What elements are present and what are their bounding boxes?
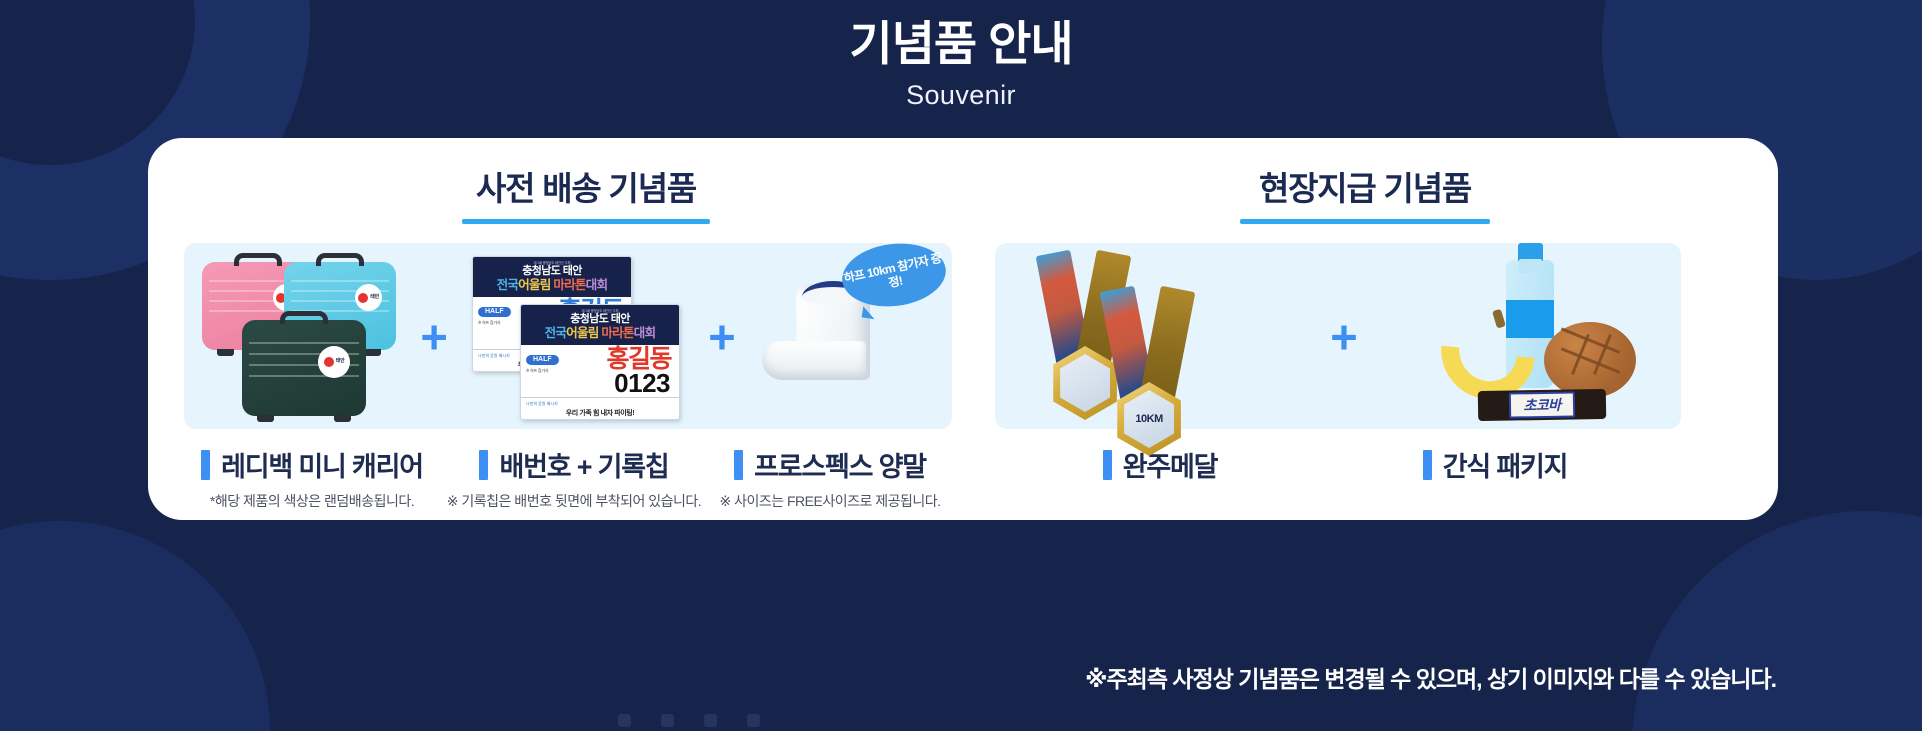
background-dot-row — [618, 714, 760, 727]
mini-carrier-artwork: 태안 태안 — [196, 250, 396, 422]
carrier-logo-badge: 태안 — [318, 346, 350, 378]
section-onsite-delivery-header: 현장지급 기념품 — [988, 162, 1742, 224]
section-pre-delivery-header: 사전 배송 기념품 — [184, 162, 988, 224]
race-bib-front: 제 1회 충청남도 태안군 주최 충청남도 태안 전국어울림 마라톤대회 HAL… — [520, 304, 680, 420]
bib-event-title: 전국어울림 마라톤대회 — [478, 278, 626, 292]
race-bib-artwork: 제 1회 충청남도 태안군 주최 충청남도 태안 전국어울림 마라톤대회 HAL… — [472, 250, 684, 422]
onsite-labels: 완주메달 간식 패키지 — [995, 445, 1681, 484]
pre-delivery-labels: 레디백 미니 캐리어 *해당 제품의 색상은 랜덤배송됩니다. 배번호 + 기록… — [184, 445, 952, 511]
bib-event-title: 전국어울림 마라톤대회 — [526, 326, 674, 340]
page-subtitle: Souvenir — [0, 80, 1922, 111]
background-dot-left — [0, 203, 46, 271]
snack-artwork: 초코바 — [1436, 248, 1642, 424]
label-accent-bar — [479, 450, 488, 480]
medal-artwork: 10KM — [1034, 248, 1252, 424]
carrier-handle-icon — [234, 253, 282, 266]
carrier-handle-icon — [316, 253, 364, 266]
label-accent-bar — [201, 450, 210, 480]
label-finisher-medal: 완주메달 — [995, 445, 1325, 484]
background-blob-bottom-left — [0, 521, 270, 731]
plus-icon: + — [420, 313, 447, 360]
pre-delivery-image-panel: 태안 태안 — [184, 243, 952, 429]
section-onsite-delivery: 현장지급 기념품 — [988, 138, 1778, 520]
label-snack-package: 간식 패키지 — [1325, 445, 1665, 484]
footer-disclaimer: ※주최측 사정상 기념품은 변경될 수 있으며, 상기 이미지와 다를 수 있습… — [1085, 660, 1776, 694]
bib-number: 0123 — [614, 370, 670, 396]
label-bib-and-chip: 배번호 + 기록칩 ※ 기록칩은 배번호 뒷면에 부착되어 있습니다. — [440, 445, 708, 511]
flower-icon — [324, 357, 334, 367]
carrier-logo-badge: 태안 — [355, 284, 382, 311]
label-accent-bar — [734, 450, 743, 480]
plus-icon: + — [1330, 313, 1357, 360]
label-mini-carrier: 레디백 미니 캐리어 *해당 제품의 색상은 랜덤배송됩니다. — [184, 445, 440, 511]
chocolate-bar-icon: 초코바 — [1478, 389, 1607, 421]
plus-icon: + — [708, 313, 735, 360]
section-pre-delivery-title: 사전 배송 기념품 — [476, 162, 696, 219]
bib-course-badge: HALF — [478, 307, 511, 317]
flower-icon — [358, 293, 368, 303]
label-accent-bar — [1103, 450, 1112, 480]
bib-course-badge: HALF — [526, 355, 559, 365]
section-onsite-delivery-title: 현장지급 기념품 — [1259, 162, 1471, 219]
sock-artwork: 하프 10km 참가자 증정! — [760, 248, 940, 424]
background-blob-bottom-right — [1632, 511, 1922, 731]
label-accent-bar — [1423, 450, 1432, 480]
section-onsite-delivery-underline — [1240, 219, 1490, 224]
label-prospecs-socks: 프로스펙스 양말 ※ 사이즈는 FREE사이즈로 제공됩니다. — [708, 445, 952, 511]
section-pre-delivery: 사전 배송 기념품 태안 — [148, 138, 988, 520]
souvenir-banner: 기념품 안내 Souvenir 사전 배송 기념품 — [0, 0, 1922, 731]
medal-distance-text: 10KM — [1120, 390, 1178, 448]
carrier-handle-icon — [280, 311, 328, 324]
souvenir-card: 사전 배송 기념품 태안 — [148, 138, 1778, 520]
onsite-image-panel: 10KM + — [995, 243, 1681, 429]
carrier-dark-green: 태안 — [242, 320, 366, 416]
section-pre-delivery-underline — [462, 219, 710, 224]
bread-icon — [1544, 322, 1636, 398]
page-title: 기념품 안내 — [0, 18, 1922, 71]
page-header: 기념품 안내 Souvenir — [0, 18, 1922, 111]
